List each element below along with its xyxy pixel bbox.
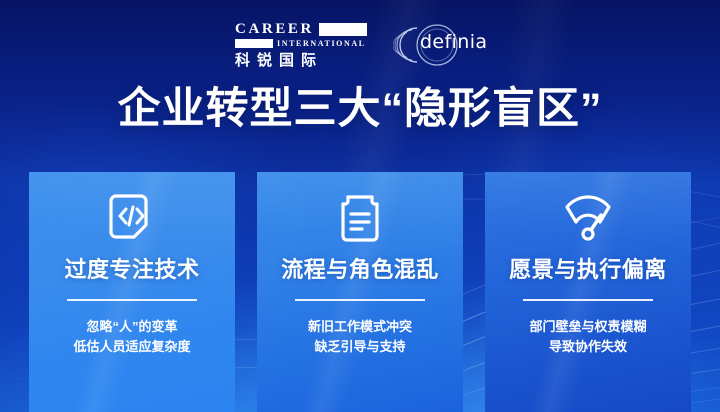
card-process-role-confusion[interactable]: 流程与角色混乱 新旧工作模式冲突 缺乏引导与支持 [257,172,463,412]
card-subtext-line: 低估人员适应复杂度 [73,337,190,357]
card-divider [67,299,197,301]
card-subtext-line: 新旧工作模式冲突 [308,317,412,337]
clipboard-lines-icon [332,190,388,246]
card-subtext-line: 忽略“人”的变革 [73,317,190,337]
card-gap [463,172,485,412]
card-gap [235,172,257,412]
career-international-logo: CAREER INTERNATIONAL 科锐国际 [235,22,367,68]
card-subtext: 新旧工作模式冲突 缺乏引导与支持 [308,317,412,357]
career-logo-chinese: 科锐国际 [235,53,323,68]
card-row-right-spacer [691,172,720,412]
career-logo-english-bottom: INTERNATIONAL [277,40,366,48]
card-divider [523,299,653,301]
gauge-needle-icon [560,190,616,246]
page-title: 企业转型三大“隐形盲区” [0,88,720,131]
card-heading: 过度专注技术 [64,259,199,281]
card-heading: 愿景与执行偏离 [509,259,667,281]
card-vision-execution-gap[interactable]: 愿景与执行偏离 部门壁垒与权责模糊 导致协作失效 [485,172,691,412]
logo-row: CAREER INTERNATIONAL 科锐国际 defini [0,22,720,68]
card-heading: 流程与角色混乱 [281,259,439,281]
code-document-icon [104,190,160,246]
poster-canvas: CAREER INTERNATIONAL 科锐国际 defini [0,0,720,412]
card-subtext: 部门壁垒与权责模糊 导致协作失效 [529,317,646,357]
card-over-focus-on-technology[interactable]: 过度专注技术 忽略“人”的变革 低估人员适应复杂度 [29,172,235,412]
card-subtext-line: 缺乏引导与支持 [308,337,412,357]
card-subtext: 忽略“人”的变革 低估人员适应复杂度 [73,317,190,357]
card-divider [295,299,425,301]
definia-wordmark: definia [420,33,487,52]
definia-logo: definia [393,24,485,66]
card-row-left-spacer [0,172,29,412]
career-logo-block [319,23,367,36]
card-subtext-line: 部门壁垒与权责模糊 [529,317,646,337]
career-logo-bar [235,39,273,48]
career-logo-english-top: CAREER [235,22,314,37]
card-row: 过度专注技术 忽略“人”的变革 低估人员适应复杂度 [0,172,720,412]
card-subtext-line: 导致协作失效 [529,337,646,357]
